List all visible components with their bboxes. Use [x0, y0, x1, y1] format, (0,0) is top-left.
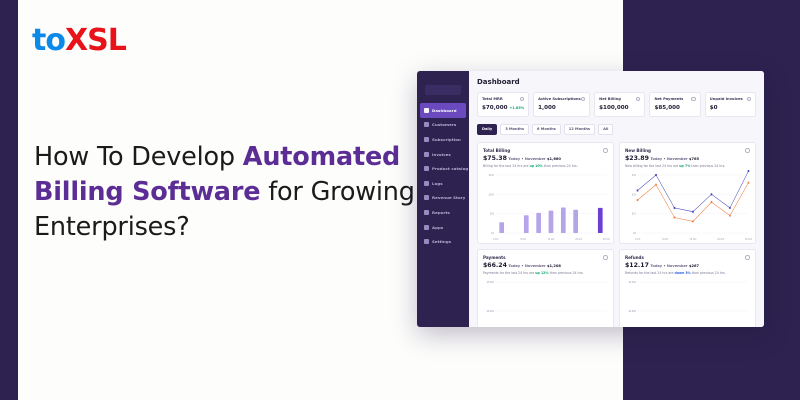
- gear-icon[interactable]: [745, 255, 750, 260]
- panel-sub-month-value: $1,660: [547, 157, 561, 161]
- panel-title: New Billing: [625, 148, 651, 153]
- panel-refunds: Refunds$12.17Today • November $267Refund…: [619, 249, 756, 327]
- refresh-icon: [424, 137, 429, 142]
- panel-amount: $66.24: [483, 262, 507, 269]
- kpi-head: Net Billing: [599, 97, 640, 101]
- kpi-row: Total MRR$70,000+1.85%Active Subscriptio…: [477, 92, 756, 117]
- panel-amount-row: $75.38Today • November $1,660: [483, 156, 608, 162]
- svg-text:$20: $20: [632, 193, 636, 196]
- kpi-card-net-payments: Net Payments$85,000: [649, 92, 700, 117]
- panel-title: Total Billing: [483, 148, 510, 153]
- panel-note-post: than previous 24 hrs.: [691, 271, 726, 275]
- grid-icon: [424, 108, 429, 113]
- apps-icon: [424, 225, 429, 230]
- svg-text:$3,000: $3,000: [487, 281, 495, 284]
- kpi-card-net-billing: Net Billing$100,000: [594, 92, 645, 117]
- panel-sub-month-label: November: [525, 157, 546, 161]
- sidebar-item-revenue-story[interactable]: Revenue Story: [420, 191, 466, 206]
- sidebar-item-product-catalog[interactable]: Product catalog: [420, 161, 466, 176]
- info-icon[interactable]: [581, 97, 585, 101]
- kpi-value-row: $70,000+1.85%: [482, 105, 524, 111]
- sidebar-item-subscription[interactable]: Subscription: [420, 132, 466, 147]
- kpi-value-row: 1,000: [538, 105, 585, 111]
- sidebar-item-label: Settings: [432, 239, 451, 244]
- svg-text:8 Oct: 8 Oct: [520, 238, 526, 241]
- panel-sub-month-label: November: [667, 264, 688, 268]
- kpi-head: Net Payments: [654, 97, 695, 101]
- kpi-head: Unpaid Invoices: [710, 97, 751, 101]
- chart-payments: $1,000$2,000$3,000: [483, 279, 608, 327]
- panel-amount: $75.38: [483, 155, 507, 162]
- kpi-value-row: $85,000: [654, 105, 695, 111]
- dashboard-main: Dashboard Total MRR$70,000+1.85%Active S…: [469, 71, 764, 327]
- document-icon: [424, 152, 429, 157]
- filter-chip-all[interactable]: All: [598, 124, 613, 135]
- panel-grid: Total Billing$75.38Today • November $1,6…: [477, 142, 756, 327]
- svg-text:22 Oct: 22 Oct: [575, 238, 582, 241]
- panel-sub-separator: •: [663, 264, 665, 268]
- panel-note-pre: New billing for the last 24 hrs are: [625, 164, 679, 168]
- panel-note-post: than previous 24 hrs.: [543, 164, 578, 168]
- panel-total-billing: Total Billing$75.38Today • November $1,6…: [477, 142, 614, 244]
- logo-text-to: to: [32, 23, 65, 58]
- panel-head: Refunds: [625, 255, 750, 260]
- kpi-value: $0: [710, 105, 718, 111]
- panel-title: Payments: [483, 255, 506, 260]
- panel-sub-today: Today: [650, 264, 662, 268]
- panel-note: Billing for the last 24 hrs are up 10% t…: [483, 164, 608, 168]
- kpi-value-row: $0: [710, 105, 751, 111]
- logo-text-sl: SL: [87, 23, 126, 58]
- kpi-head: Total MRR: [482, 97, 524, 101]
- panel-sub-month-value: $267: [689, 264, 699, 268]
- panel-note: Refunds for the last 24 hrs are down 3% …: [625, 271, 750, 275]
- logo-text-x: X: [65, 23, 87, 58]
- sidebar-item-reports[interactable]: Reports: [420, 205, 466, 220]
- sidebar-item-dashboard[interactable]: Dashboard: [420, 103, 466, 118]
- chart-refunds: $1,000$2,000$3,000: [625, 279, 750, 327]
- svg-text:$30: $30: [632, 174, 636, 177]
- sidebar-item-label: Logs: [432, 181, 443, 186]
- panel-note-post: than previous 24 hrs.: [549, 271, 584, 275]
- svg-text:29 Oct: 29 Oct: [603, 238, 610, 241]
- headline-lead: How To Develop: [34, 142, 243, 172]
- panel-note-pre: Billing for the last 24 hrs are: [483, 164, 529, 168]
- date-filter-row: Daily3 Months6 Months12 MonthsAll: [477, 124, 756, 135]
- svg-text:8 Oct: 8 Oct: [662, 238, 668, 241]
- svg-text:$0: $0: [491, 232, 494, 235]
- panel-note: Payments for the last 24 hrs are up 12% …: [483, 271, 608, 275]
- panel-head: Payments: [483, 255, 608, 260]
- filter-chip-daily[interactable]: Daily: [477, 124, 497, 135]
- panel-note-trend: up 12%: [535, 271, 548, 275]
- panel-note: New billing for the last 24 hrs are up 7…: [625, 164, 750, 168]
- sidebar-item-label: Invoices: [432, 152, 451, 157]
- svg-text:$50: $50: [490, 212, 494, 215]
- panel-amount: $23.89: [625, 155, 649, 162]
- gear-icon[interactable]: [603, 255, 608, 260]
- panel-amount-sub: Today • November $765: [650, 157, 699, 161]
- sidebar-item-invoices[interactable]: Invoices: [420, 147, 466, 162]
- kpi-delta: +1.85%: [509, 106, 524, 110]
- svg-text:1 Oct: 1 Oct: [493, 238, 499, 241]
- panel-note-pre: Payments for the last 24 hrs are: [483, 271, 535, 275]
- panel-amount-sub: Today • November $267: [650, 264, 699, 268]
- gear-icon[interactable]: [603, 148, 608, 153]
- list-icon: [424, 181, 429, 186]
- sidebar-item-label: Apps: [432, 225, 443, 230]
- kpi-head: Active Subscriptions: [538, 97, 585, 101]
- kpi-card-total-mrr: Total MRR$70,000+1.85%: [477, 92, 529, 117]
- panel-note-trend: up 7%: [679, 164, 690, 168]
- sidebar-item-label: Customers: [432, 122, 456, 127]
- panel-amount: $12.17: [625, 262, 649, 269]
- box-icon: [424, 166, 429, 171]
- svg-text:15 Oct: 15 Oct: [689, 238, 696, 241]
- panel-sub-today: Today: [650, 157, 662, 161]
- dashboard-heading: Dashboard: [477, 78, 756, 86]
- info-icon[interactable]: [636, 97, 640, 101]
- svg-text:$100: $100: [489, 193, 495, 196]
- sidebar-item-label: Reports: [432, 210, 450, 215]
- chart-icon: [424, 195, 429, 200]
- panel-sub-month-value: $765: [689, 157, 699, 161]
- filter-chip-6-months[interactable]: 6 Months: [532, 124, 561, 135]
- sidebar-logo-placeholder: [425, 85, 461, 95]
- kpi-card-active-subscriptions: Active Subscriptions1,000: [533, 92, 590, 117]
- panel-title: Refunds: [625, 255, 644, 260]
- kpi-value: 1,000: [538, 105, 556, 111]
- page-title: How To Develop Automated Billing Softwar…: [34, 140, 424, 246]
- info-icon[interactable]: [747, 97, 751, 101]
- page-root: toXSL How To Develop Automated Billing S…: [0, 0, 800, 400]
- sidebar-item-logs[interactable]: Logs: [420, 176, 466, 191]
- sidebar-item-apps[interactable]: Apps: [420, 220, 466, 235]
- info-icon[interactable]: [520, 97, 524, 101]
- dashboard-mockup: DashboardCustomersSubscriptionInvoicesPr…: [417, 71, 764, 327]
- svg-text:22 Oct: 22 Oct: [717, 238, 724, 241]
- svg-text:$3,000: $3,000: [629, 281, 637, 284]
- info-icon[interactable]: [691, 97, 695, 101]
- panel-note-post: than previous 24 hrs.: [690, 164, 725, 168]
- filter-chip-3-months[interactable]: 3 Months: [500, 124, 529, 135]
- svg-text:15 Oct: 15 Oct: [547, 238, 554, 241]
- panel-sub-separator: •: [521, 264, 523, 268]
- kpi-label: Net Payments: [654, 97, 683, 101]
- brand-logo[interactable]: toXSL: [32, 26, 126, 56]
- svg-text:$150: $150: [489, 174, 495, 177]
- panel-sub-month-value: $1,208: [547, 264, 561, 268]
- sidebar-item-label: Revenue Story: [432, 195, 465, 200]
- panel-amount-sub: Today • November $1,208: [508, 264, 560, 268]
- panel-sub-separator: •: [663, 157, 665, 161]
- panel-head: New Billing: [625, 148, 750, 153]
- gear-icon[interactable]: [745, 148, 750, 153]
- panel-sub-month-label: November: [667, 157, 688, 161]
- panel-sub-separator: •: [521, 157, 523, 161]
- panel-sub-today: Today: [508, 157, 520, 161]
- kpi-card-unpaid-invoices: Unpaid Invoices$0: [705, 92, 756, 117]
- background-left-strip: [0, 0, 18, 400]
- kpi-value: $85,000: [654, 105, 679, 111]
- svg-text:29 Oct: 29 Oct: [745, 238, 752, 241]
- svg-text:$2,000: $2,000: [487, 310, 495, 313]
- panel-head: Total Billing: [483, 148, 608, 153]
- sidebar-item-settings[interactable]: Settings: [420, 234, 466, 249]
- svg-text:$2,000: $2,000: [629, 310, 637, 313]
- bar-chart-icon: [424, 210, 429, 215]
- kpi-label: Unpaid Invoices: [710, 97, 743, 101]
- panel-note-trend: up 10%: [529, 164, 542, 168]
- svg-text:$0: $0: [633, 232, 636, 235]
- panel-amount-row: $23.89Today • November $765: [625, 156, 750, 162]
- sidebar-item-label: Subscription: [432, 137, 461, 142]
- kpi-value: $70,000: [482, 105, 507, 111]
- user-icon: [424, 122, 429, 127]
- sidebar-item-label: Dashboard: [432, 108, 457, 113]
- panel-payments: Payments$66.24Today • November $1,208Pay…: [477, 249, 614, 327]
- sidebar-item-customers[interactable]: Customers: [420, 118, 466, 133]
- kpi-value-row: $100,000: [599, 105, 640, 111]
- chart-total-billing: $0$50$100$1501 Oct8 Oct15 Oct22 Oct29 Oc…: [483, 172, 608, 242]
- kpi-label: Active Subscriptions: [538, 97, 581, 101]
- sidebar-item-label: Product catalog: [432, 166, 468, 171]
- panel-new-billing: New Billing$23.89Today • November $765Ne…: [619, 142, 756, 244]
- panel-sub-month-label: November: [525, 264, 546, 268]
- panel-amount-row: $12.17Today • November $267: [625, 263, 750, 269]
- kpi-label: Net Billing: [599, 97, 621, 101]
- panel-note-pre: Refunds for the last 24 hrs are: [625, 271, 675, 275]
- kpi-label: Total MRR: [482, 97, 503, 101]
- svg-text:1 Oct: 1 Oct: [635, 238, 641, 241]
- filter-chip-12-months[interactable]: 12 Months: [564, 124, 595, 135]
- gear-icon: [424, 239, 429, 244]
- panel-amount-row: $66.24Today • November $1,208: [483, 263, 608, 269]
- panel-amount-sub: Today • November $1,660: [508, 157, 560, 161]
- panel-note-trend: down 3%: [675, 271, 691, 275]
- chart-new-billing: $0$10$20$301 Oct8 Oct15 Oct22 Oct29 Oct: [625, 172, 750, 242]
- svg-text:$10: $10: [632, 212, 636, 215]
- panel-sub-today: Today: [508, 264, 520, 268]
- dashboard-sidebar: DashboardCustomersSubscriptionInvoicesPr…: [417, 71, 469, 327]
- kpi-value: $100,000: [599, 105, 628, 111]
